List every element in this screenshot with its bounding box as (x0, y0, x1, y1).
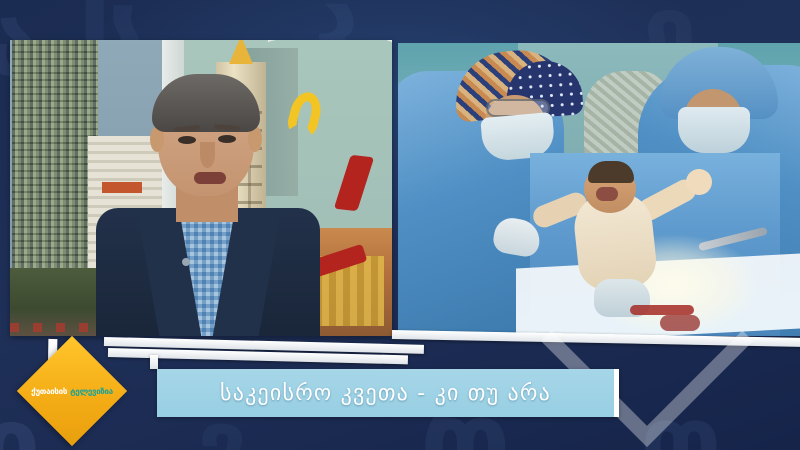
newborn-hair (588, 161, 634, 183)
interview-guest (96, 80, 320, 336)
blood-stain (630, 305, 694, 315)
blood-stain (660, 315, 700, 331)
lower-third-banner: საკეისრო კვეთა - კი თუ არა (157, 369, 619, 417)
channel-logo-word-secondary: ტელევიზია (70, 387, 113, 396)
broadcast-screen: ა ს კ ე ი რ ო ვ (0, 0, 800, 450)
banner-headline: საკეისრო კვეთა - კი თუ არა (220, 381, 551, 406)
newborn-mouth (596, 187, 618, 201)
hair (152, 74, 260, 132)
eye-right (218, 135, 236, 143)
surgery-photo (398, 43, 800, 336)
surgical-mask-right (678, 107, 750, 153)
photo-frame-strip (150, 355, 158, 369)
channel-logo-word-primary: ქუთაისის (31, 387, 67, 396)
background-watermark-glyph: ო (640, 392, 721, 450)
glass-tower-building (12, 40, 98, 270)
channel-logo: ქუთაისის ტელევიზია (33, 352, 111, 430)
mouth (194, 172, 226, 184)
lapel-microphone (182, 258, 190, 266)
nose (200, 142, 215, 168)
interview-photo (10, 40, 392, 336)
baby-hand-right (686, 169, 712, 195)
eye-left (178, 136, 196, 144)
